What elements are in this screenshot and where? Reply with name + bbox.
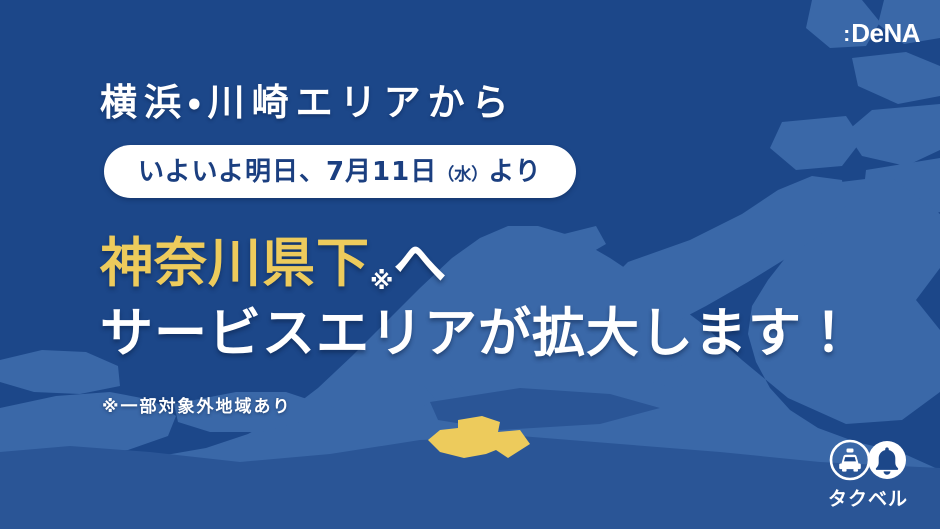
headline-asterisk-mark: ※: [370, 267, 393, 295]
headline-highlight: 神奈川県下: [100, 233, 370, 294]
takubell-logo: タクベル: [816, 439, 920, 509]
headline-block: 神奈川県下※へ サービスエリアが拡大します！: [100, 232, 856, 365]
takubell-wordmark: タクベル: [828, 490, 908, 509]
service-area-banner: : DeNA 横浜・川崎エリアから いよいよ明日、7月11日（水）より 神奈川県…: [0, 0, 940, 529]
headline-line-1-tail: へ: [393, 233, 447, 294]
dena-logo: : DeNA: [843, 20, 920, 46]
headline-line-1: 神奈川県下※へ: [100, 232, 856, 296]
headline-line-2: サービスエリアが拡大します！: [100, 302, 856, 366]
date-badge: いよいよ明日、7月11日（水）より: [104, 145, 576, 198]
date-badge-weekday: （水）: [437, 165, 488, 185]
bell-icon: [866, 439, 908, 481]
date-badge-prefix: いよいよ明日、7月11日: [138, 157, 437, 187]
date-badge-label: いよいよ明日、7月11日（水）より: [138, 159, 542, 185]
taxi-icon: [829, 439, 871, 481]
footnote-text: ※一部対象外地域あり: [102, 392, 292, 417]
dena-wordmark: DeNA: [851, 20, 920, 46]
banner-content: 横浜・川崎エリアから いよいよ明日、7月11日（水）より 神奈川県下※へ サービ…: [0, 0, 940, 529]
eyebrow-text: 横浜・川崎エリアから: [100, 72, 516, 126]
date-badge-suffix: より: [488, 157, 541, 187]
takubell-icon-group: [829, 439, 908, 481]
dena-colon-mark: :: [843, 24, 849, 45]
